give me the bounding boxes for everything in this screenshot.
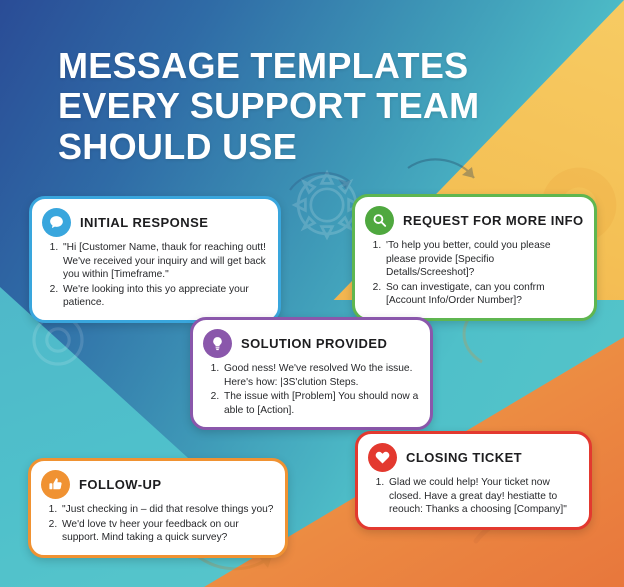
card-title: CLOSING TICKET [406,450,522,465]
card-follow-up: FOLLOW-UP "Just checking in – did that r… [28,458,288,558]
list-item: 'To help you better, could you please pl… [384,239,583,280]
infographic-poster: MESSAGE TEMPLATES EVERY SUPPORT TEAM SHO… [0,0,624,587]
list-item: "Hi [Customer Name, thauk for reaching o… [61,241,267,282]
card-request-for-more-info: REQUEST FOR MORE INFO 'To help you bette… [352,194,597,321]
lightbulb-icon [203,329,232,358]
list-item: Glad we could help! Your ticket now clos… [387,476,578,517]
card-initial-response: INITIAL RESPONSE "Hi [Customer Name, tha… [29,196,281,323]
card-title: REQUEST FOR MORE INFO [403,213,584,228]
list-item: Good ness! We've resolved Wo the issue. … [222,362,419,389]
card-header: INITIAL RESPONSE [32,199,278,239]
card-solution-provided: SOLUTION PROVIDED Good ness! We've resol… [190,317,433,430]
card-items: "Hi [Customer Name, thauk for reaching o… [32,241,278,320]
chat-bubble-icon [42,208,71,237]
card-title: SOLUTION PROVIDED [241,336,387,351]
card-title: INITIAL RESPONSE [80,215,208,230]
card-items: Glad we could help! Your ticket now clos… [358,476,589,527]
thumbs-up-icon [41,470,70,499]
page-title: MESSAGE TEMPLATES EVERY SUPPORT TEAM SHO… [58,46,588,167]
list-item: The issue with [Problem] You should now … [222,390,419,417]
card-header: SOLUTION PROVIDED [193,320,430,360]
card-items: "Just checking in – did that resolve thi… [31,503,285,555]
card-header: CLOSING TICKET [358,434,589,474]
card-header: REQUEST FOR MORE INFO [355,197,594,237]
card-closing-ticket: CLOSING TICKET Glad we could help! Your … [355,431,592,530]
heart-icon [368,443,397,472]
magnifier-icon [365,206,394,235]
list-item: We're looking into this yo appreciate yo… [61,283,267,310]
list-item: We'd love tv heer your feedback on our s… [60,518,274,545]
card-title: FOLLOW-UP [79,477,162,492]
arrow-curve-icon [286,166,356,200]
card-items: 'To help you better, could you please pl… [355,239,594,318]
list-item: So can investigate, can you confrm [Acco… [384,281,583,308]
card-items: Good ness! We've resolved Wo the issue. … [193,362,430,427]
card-header: FOLLOW-UP [31,461,285,501]
list-item: "Just checking in – did that resolve thi… [60,503,274,517]
